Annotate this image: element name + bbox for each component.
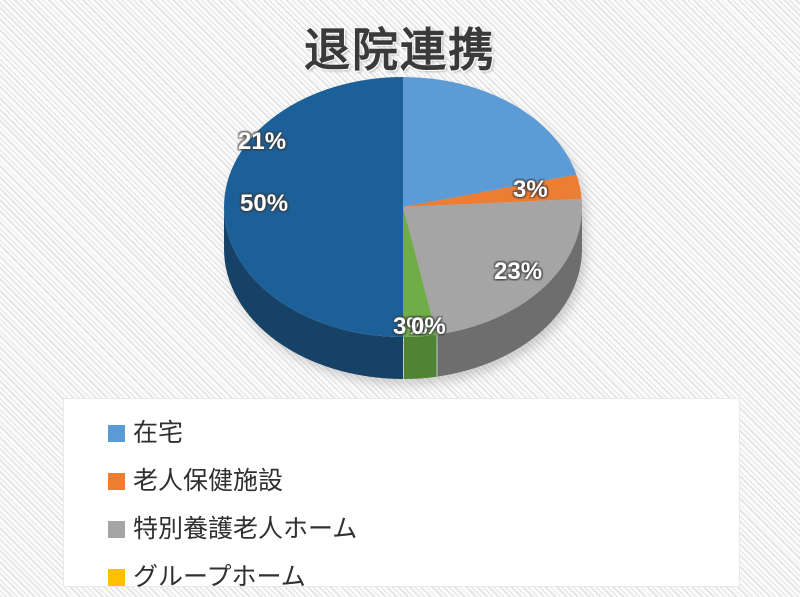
- legend-item-label: 在宅: [133, 421, 183, 446]
- legend-item[interactable]: グループホーム: [108, 553, 443, 597]
- legend-color-swatch-icon: [108, 521, 125, 538]
- legend-item[interactable]: 特別養護老人ホーム: [108, 505, 443, 553]
- pie-chart[interactable]: 21%3%23%3%0%50%: [210, 95, 600, 395]
- legend-color-swatch-icon: [108, 473, 125, 490]
- legend-item[interactable]: 在宅: [108, 409, 443, 457]
- legend-item-label: 特別養護老人ホーム: [133, 517, 357, 542]
- page-title: 退院連携: [0, 14, 800, 80]
- legend-color-swatch-icon: [108, 569, 125, 586]
- pie-chart-svg: [210, 95, 600, 395]
- legend-item[interactable]: 老人保健施設: [108, 457, 443, 505]
- legend-item-label: グループホーム: [133, 565, 306, 590]
- pie-slice-side-5: [404, 335, 437, 379]
- legend-grid: 在宅老人保健施設特別養護老人ホームグループホーム有料老人ホーム他の施設その他（転…: [64, 409, 739, 586]
- legend-color-swatch-icon: [108, 425, 125, 442]
- chart-legend: 在宅老人保健施設特別養護老人ホームグループホーム有料老人ホーム他の施設その他（転…: [63, 398, 740, 587]
- pie-slices-group: [224, 77, 582, 379]
- slide-canvas: 退院連携 21%3%23%3%0%50% 在宅老人保健施設特別養護老人ホームグル…: [0, 0, 800, 597]
- legend-item-label: 老人保健施設: [133, 469, 283, 494]
